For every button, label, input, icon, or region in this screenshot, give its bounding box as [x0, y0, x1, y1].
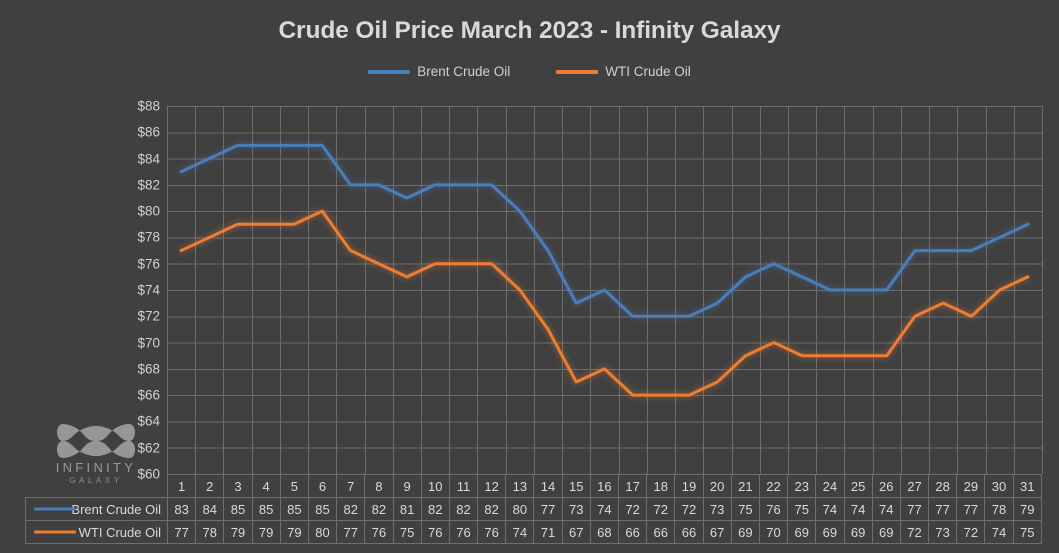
table-value-cell: 74	[985, 521, 1013, 544]
table-value-cell: 76	[759, 498, 787, 521]
table-value-cell: 78	[985, 498, 1013, 521]
y-axis-tick-label: $86	[110, 126, 160, 140]
page-title: Crude Oil Price March 2023 - Infinity Ga…	[0, 17, 1059, 45]
y-axis-tick-label: $82	[110, 178, 160, 192]
table-value-cell: 69	[872, 521, 900, 544]
table-value-cell: 74	[872, 498, 900, 521]
table-value-cell: 69	[844, 521, 872, 544]
table-series-name: Brent Crude Oil	[71, 502, 161, 517]
series-line-wti	[181, 211, 1028, 395]
table-body: Brent Crude Oil8384858585858282818282828…	[26, 498, 1042, 544]
y-axis-tick-label: $84	[110, 152, 160, 166]
table-value-cell: 81	[393, 498, 421, 521]
table-header-row: 1234567891011121314151617181920212223242…	[26, 475, 1042, 498]
table-value-cell: 74	[844, 498, 872, 521]
y-axis-tick-label: $78	[110, 231, 160, 245]
table-day-header: 15	[562, 475, 590, 498]
table-value-cell: 80	[308, 521, 336, 544]
table-value-cell: 71	[534, 521, 562, 544]
table-value-cell: 72	[957, 521, 985, 544]
table-value-cell: 79	[280, 521, 308, 544]
table-value-cell: 76	[421, 521, 449, 544]
table-value-cell: 82	[337, 498, 365, 521]
table-value-cell: 77	[534, 498, 562, 521]
table-value-cell: 85	[308, 498, 336, 521]
table-day-header: 2	[196, 475, 224, 498]
data-table: 1234567891011121314151617181920212223242…	[25, 474, 1042, 544]
table-day-header: 25	[844, 475, 872, 498]
table-day-header: 31	[1013, 475, 1041, 498]
table-value-cell: 82	[449, 498, 477, 521]
table-value-cell: 82	[478, 498, 506, 521]
table-value-cell: 72	[647, 498, 675, 521]
table-value-cell: 85	[252, 498, 280, 521]
table-value-cell: 69	[788, 521, 816, 544]
table-day-header: 28	[929, 475, 957, 498]
table-value-cell: 79	[1013, 498, 1041, 521]
table-day-header: 19	[675, 475, 703, 498]
table-day-header: 12	[478, 475, 506, 498]
table-day-header: 26	[872, 475, 900, 498]
table-value-cell: 69	[816, 521, 844, 544]
table-value-cell: 69	[731, 521, 759, 544]
table-value-cell: 72	[675, 498, 703, 521]
table-day-header: 7	[337, 475, 365, 498]
table-day-header: 23	[788, 475, 816, 498]
table-value-cell: 67	[562, 521, 590, 544]
legend-label-wti: WTI Crude Oil	[605, 64, 691, 79]
table-value-cell: 76	[478, 521, 506, 544]
legend-swatch-wti-line-icon	[556, 70, 598, 74]
table-day-header: 20	[703, 475, 731, 498]
table-row: Brent Crude Oil8384858585858282818282828…	[26, 498, 1042, 521]
table-value-cell: 67	[703, 521, 731, 544]
table-day-header: 8	[365, 475, 393, 498]
table-day-header: 4	[252, 475, 280, 498]
infinity-logo-icon	[55, 420, 137, 462]
table-day-header: 5	[280, 475, 308, 498]
y-axis-tick-label: $88	[110, 99, 160, 113]
table-value-cell: 68	[590, 521, 618, 544]
table-value-cell: 66	[619, 521, 647, 544]
table-value-cell: 82	[421, 498, 449, 521]
table-value-cell: 77	[957, 498, 985, 521]
table-value-cell: 74	[506, 521, 534, 544]
table-day-header: 3	[224, 475, 252, 498]
table-day-header: 18	[647, 475, 675, 498]
table-day-header: 11	[449, 475, 477, 498]
table-value-cell: 77	[929, 498, 957, 521]
table-value-cell: 75	[393, 521, 421, 544]
table-day-header: 30	[985, 475, 1013, 498]
table-day-header: 24	[816, 475, 844, 498]
table-value-cell: 66	[647, 521, 675, 544]
y-axis-tick-label: $74	[110, 283, 160, 297]
table-day-header: 10	[421, 475, 449, 498]
table-value-cell: 66	[675, 521, 703, 544]
table-value-cell: 77	[337, 521, 365, 544]
table-value-cell: 75	[1013, 521, 1041, 544]
table-value-cell: 76	[449, 521, 477, 544]
y-axis-tick-label: $72	[110, 310, 160, 324]
legend-item-brent[interactable]: Brent Crude Oil	[368, 64, 510, 79]
y-axis: $88$86$84$82$80$78$76$74$72$70$68$66$64$…	[110, 106, 160, 474]
table-value-cell: 85	[280, 498, 308, 521]
y-axis-tick-label: $70	[110, 336, 160, 350]
series-lines	[167, 106, 1042, 474]
legend-item-wti[interactable]: WTI Crude Oil	[556, 64, 691, 79]
chart-container: Crude Oil Price March 2023 - Infinity Ga…	[0, 0, 1059, 553]
table-value-cell: 83	[168, 498, 196, 521]
table-value-cell: 84	[196, 498, 224, 521]
table-value-cell: 80	[506, 498, 534, 521]
table-day-header: 1	[168, 475, 196, 498]
table-value-cell: 70	[759, 521, 787, 544]
logo-name: INFINITY	[42, 460, 150, 475]
table-value-cell: 79	[224, 521, 252, 544]
table-value-cell: 74	[816, 498, 844, 521]
y-axis-tick-label: $80	[110, 204, 160, 218]
table-row: WTI Crude Oil777879797980777675767676747…	[26, 521, 1042, 544]
table-value-cell: 77	[900, 498, 928, 521]
legend-label-brent: Brent Crude Oil	[417, 64, 510, 79]
table-value-cell: 73	[929, 521, 957, 544]
table-day-header: 13	[506, 475, 534, 498]
table-corner-cell	[26, 475, 168, 498]
table-day-header: 16	[590, 475, 618, 498]
table-swatch-line-icon	[34, 531, 76, 534]
table-series-label-brent: Brent Crude Oil	[26, 498, 168, 521]
table-value-cell: 79	[252, 521, 280, 544]
table-value-cell: 73	[562, 498, 590, 521]
table-value-cell: 77	[168, 521, 196, 544]
table-value-cell: 85	[224, 498, 252, 521]
table-day-header: 6	[308, 475, 336, 498]
chart-legend: Brent Crude Oil WTI Crude Oil	[0, 64, 1059, 79]
table-day-header: 22	[759, 475, 787, 498]
table-day-header: 9	[393, 475, 421, 498]
plot-area	[167, 106, 1042, 474]
table-day-header: 17	[619, 475, 647, 498]
table-day-header: 14	[534, 475, 562, 498]
table-day-header: 27	[900, 475, 928, 498]
table-series-name: WTI Crude Oil	[79, 525, 161, 540]
table-value-cell: 73	[703, 498, 731, 521]
table-day-header: 29	[957, 475, 985, 498]
table-value-cell: 78	[196, 521, 224, 544]
table-value-cell: 72	[619, 498, 647, 521]
y-axis-tick-label: $66	[110, 388, 160, 402]
table-value-cell: 76	[365, 521, 393, 544]
table-series-label-wti: WTI Crude Oil	[26, 521, 168, 544]
table-value-cell: 82	[365, 498, 393, 521]
y-axis-tick-label: $76	[110, 257, 160, 271]
table-value-cell: 74	[590, 498, 618, 521]
y-axis-tick-label: $68	[110, 362, 160, 376]
table-value-cell: 72	[900, 521, 928, 544]
table-value-cell: 75	[788, 498, 816, 521]
table-day-header: 21	[731, 475, 759, 498]
table-value-cell: 75	[731, 498, 759, 521]
legend-swatch-brent-line-icon	[368, 70, 410, 74]
series-line-brent	[181, 145, 1028, 316]
table-swatch-line-icon	[34, 508, 76, 511]
